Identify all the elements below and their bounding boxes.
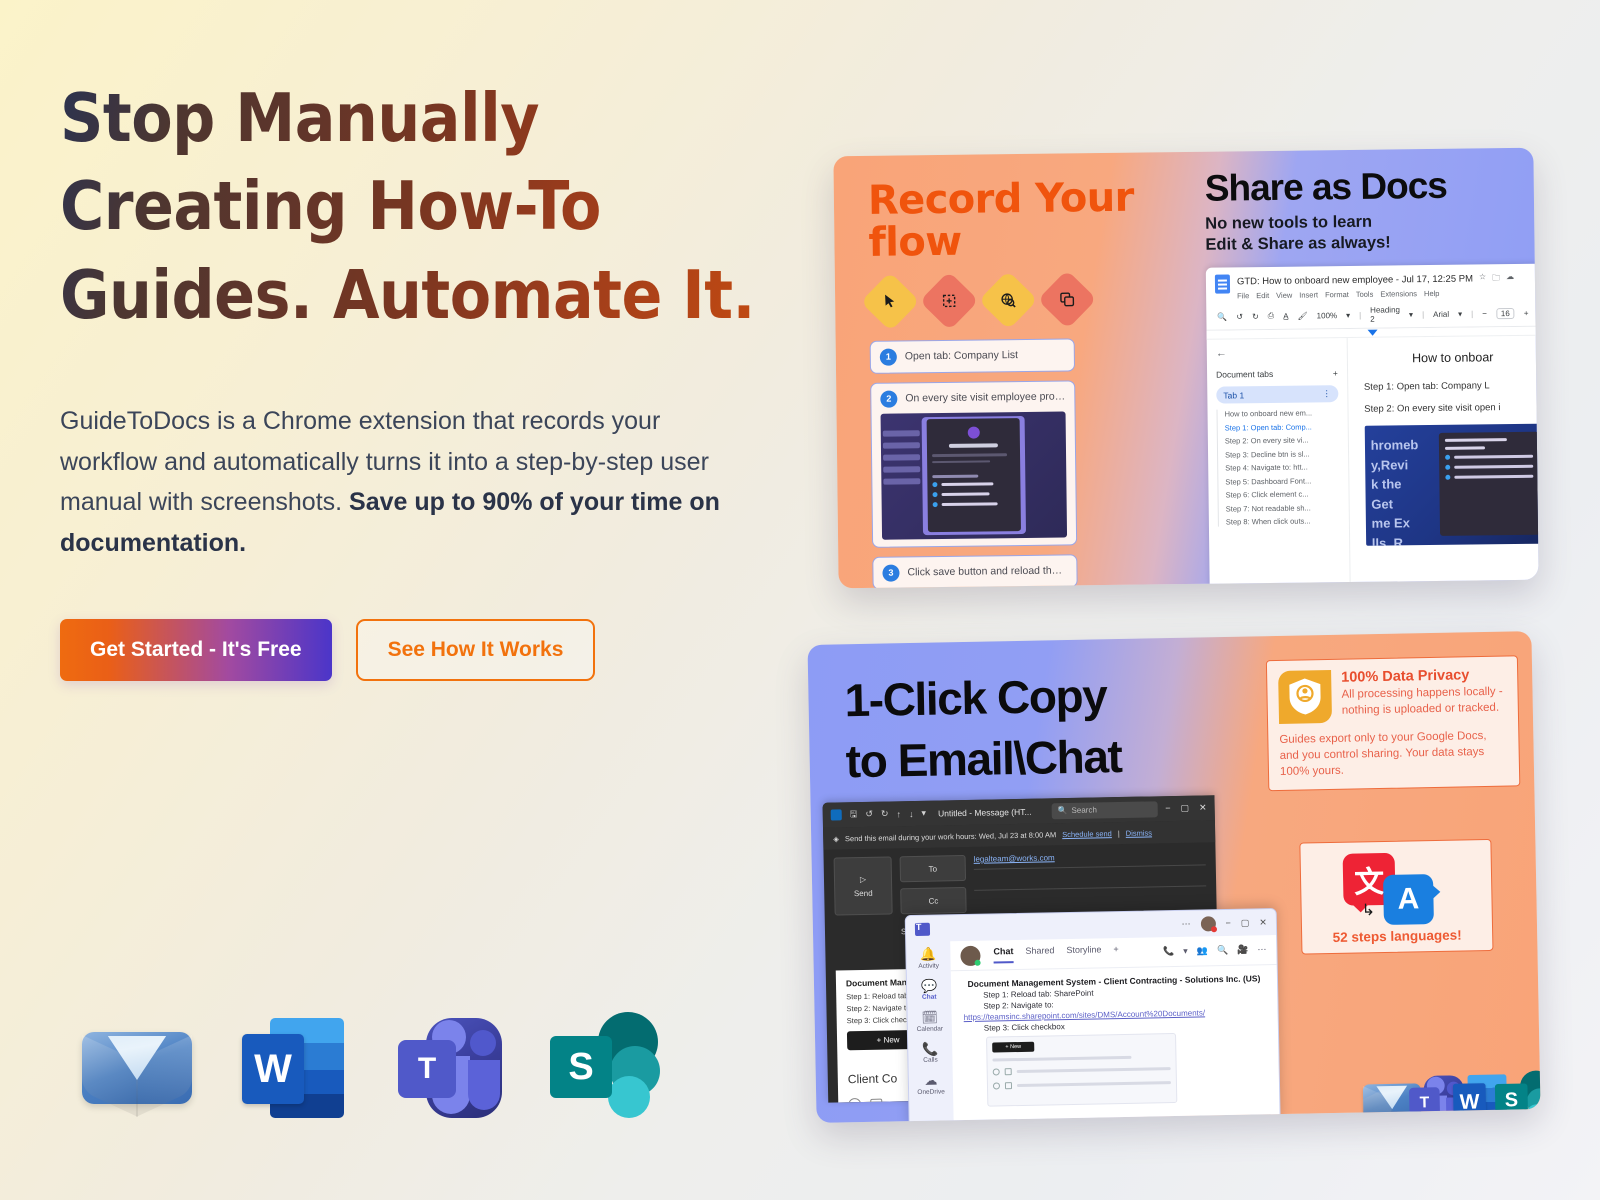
record-flow-panel: Record Your flow 1 Open tab: Company Lis… [833, 152, 1202, 588]
recipient-buttons: To Cc [900, 855, 967, 914]
mail-icon [78, 1008, 196, 1126]
google-docs-window: GTD: How to onboard new employee - Jul 1… [1206, 264, 1539, 589]
word-icon-letter: W [242, 1034, 304, 1104]
document-tab-name: Tab 1 [1223, 390, 1244, 400]
step-header: 2 On every site visit employee profile a… [880, 388, 1065, 407]
schedule-send-link[interactable]: Schedule send [1062, 829, 1112, 839]
docs-embedded-screenshot: hromeby,Revik theGetme Exlls, Rws in [1364, 424, 1538, 546]
word-icon: W [1448, 1070, 1481, 1103]
outline-item[interactable]: How to onboard new em... [1225, 408, 1339, 418]
outline-item[interactable]: Step 3: Decline btn is sl... [1225, 449, 1339, 459]
send-icon: ▷ [860, 874, 866, 883]
search-icon[interactable]: 🔍 [1217, 312, 1227, 321]
share-as-docs-subtitle: No new tools to learn Edit & Share as al… [1205, 210, 1534, 257]
screenshot-line [1445, 446, 1485, 449]
chevron-down-icon[interactable]: ▾ [1458, 309, 1462, 318]
menu-edit[interactable]: Edit [1256, 291, 1269, 300]
docs-page-heading: How to onboar [1364, 350, 1539, 366]
move-up-icon[interactable]: ↑ [896, 809, 901, 819]
send-button[interactable]: ▷ Send [834, 856, 893, 915]
screenshot-modal-content [927, 418, 1021, 533]
outline-item[interactable]: Step 5: Dashboard Font... [1225, 476, 1339, 486]
search-placeholder: Search [1071, 805, 1097, 814]
privacy-text-block: 100% Data Privacy All processing happens… [1341, 667, 1507, 723]
teams-message: Document Management System - Client Cont… [951, 965, 1280, 1115]
font-family-select[interactable]: Arial [1433, 309, 1449, 318]
window-controls: − ▢ ✕ [1165, 802, 1207, 814]
outline-item[interactable]: Step 7: Not readable sh... [1226, 503, 1340, 513]
one-click-copy-title: 1-Click Copy to Email\Chat [844, 665, 1122, 792]
tab-storyline[interactable]: Storyline [1066, 944, 1101, 962]
docs-step-line: Step 2: On every site visit open i [1364, 402, 1538, 415]
screenshot-checkbox-row [933, 481, 1016, 487]
cc-recipient-value[interactable] [974, 865, 1206, 890]
google-docs-icon [1215, 274, 1230, 293]
step-number: 2 [880, 390, 897, 407]
tab-options-icon[interactable]: ⋮ [1322, 388, 1331, 399]
save-icon[interactable]: 🖫 [850, 807, 858, 823]
share-subtitle-line2: Edit & Share as always! [1205, 231, 1534, 256]
outlook-icon [831, 809, 842, 820]
bold-icon[interactable]: B [1537, 308, 1538, 317]
outline-item[interactable]: Step 2: On every site vi... [1225, 435, 1339, 445]
star-icon[interactable]: ☆ [1479, 272, 1486, 286]
outlook-window-title: Untitled - Message (HT... [938, 806, 1032, 818]
screenshot-overlay-text: hromeby,Revik theGetme Exlls, Rws in [1371, 435, 1420, 546]
add-tab-icon[interactable]: + [1333, 368, 1338, 378]
docs-outline-sidebar: ← Document tabs + Tab 1 ⋮ How to onboard… [1207, 338, 1351, 588]
zoom-level[interactable]: 100% [1317, 311, 1338, 320]
hero-description: GuideToDocs is a Chrome extension that r… [60, 401, 740, 563]
outlook-search-input[interactable]: 🔍 Search [1051, 801, 1157, 819]
crop-select-icon[interactable] [919, 271, 978, 330]
record-flow-title: Record Your flow [868, 176, 1181, 265]
paint-format-icon[interactable]: 🖌 [1297, 311, 1307, 320]
cloud-saved-icon[interactable]: ☁ [1506, 272, 1514, 286]
teams-window-controls: ⋯ − ▢ ✕ [1181, 915, 1267, 932]
chevron-down-icon[interactable]: ▾ [1183, 946, 1188, 957]
print-icon[interactable]: ⎙ [1268, 311, 1275, 321]
screenshot-checkbox-row [933, 491, 1016, 497]
cc-button[interactable]: Cc [900, 887, 966, 914]
redo-icon[interactable]: ↻ [881, 808, 889, 819]
screenshot-checkbox-row [1445, 454, 1533, 460]
feature-card-one-click-copy: 1-Click Copy to Email\Chat 🖫 ↺ ↻ ↑ ↓ ▾ U… [807, 631, 1540, 1123]
card2-integration-icons: T W S [1359, 1039, 1526, 1104]
maximize-icon[interactable]: ▢ [1241, 917, 1250, 928]
one-click-copy-title-line1: 1-Click Copy [844, 665, 1121, 731]
thumb-row [993, 1079, 1171, 1089]
docs-step-line: Step 1: Open tab: Company L [1364, 380, 1539, 393]
to-button[interactable]: To [900, 855, 966, 882]
step-header: 1 Open tab: Company List [880, 346, 1065, 365]
more-options-icon[interactable]: ⋯ [1257, 944, 1266, 955]
teams-icon-head-small [470, 1030, 496, 1056]
document-tabs-label: Document tabs [1216, 369, 1273, 380]
sidebar-item-calendar[interactable]: 🗓Calendar [908, 1009, 952, 1032]
screenshot-sidebar [883, 431, 921, 491]
privacy-header: 100% Data Privacy All processing happens… [1278, 667, 1507, 724]
close-icon[interactable]: ✕ [1259, 917, 1267, 928]
teams-body: 🔔Activity 💬Chat 🗓Calendar 📞Calls ☁OneDri… [906, 935, 1279, 1123]
screenshot-modal-avatar [967, 427, 979, 439]
move-folder-icon[interactable]: 🗀 [1492, 272, 1500, 286]
search-icon: 🔍 [1057, 806, 1067, 815]
docs-toolbar: 🔍 ↺ ↻ ⎙ A̲ 🖌 100% ▾ | Heading 2 ▾ | Aria… [1206, 300, 1538, 331]
sharepoint-icon-circle-bottom [1526, 1104, 1541, 1123]
outline-item[interactable]: Step 4: Navigate to: htt... [1225, 462, 1339, 472]
step-header: 3 Click save button and reload the page [882, 562, 1067, 581]
chat-icon: 💬 [907, 978, 951, 994]
step-card[interactable]: 3 Click save button and reload the page [872, 554, 1077, 588]
menu-format[interactable]: Format [1325, 290, 1349, 299]
page-title: Stop Manually Creating How-To Guides. Au… [60, 74, 760, 339]
docs-body: ← Document tabs + Tab 1 ⋮ How to onboard… [1207, 336, 1539, 589]
screenshot-line [932, 453, 1006, 456]
tab-shared[interactable]: Shared [1025, 945, 1054, 963]
shield-person-icon [1278, 670, 1332, 724]
teams-icon-body-small [468, 1060, 500, 1110]
radio-icon[interactable] [848, 1098, 861, 1102]
teams-icon: T [1404, 1070, 1437, 1103]
teams-chat-window: ⋯ − ▢ ✕ 🔔Activity 💬Chat 🗓Calendar 📞Calls… [905, 908, 1281, 1123]
docs-menubar[interactable]: File Edit View Insert Format Tools Exten… [1237, 288, 1514, 300]
sidebar-item-calls[interactable]: 📞Calls [908, 1041, 952, 1064]
privacy-footer: Guides export only to your Google Docs, … [1279, 728, 1508, 781]
languages-panel: 文 A ↳ 52 steps languages! [1299, 839, 1493, 955]
sharepoint-icon-group: S [1494, 1070, 1541, 1123]
docs-document-title: GTD: How to onboard new employee - Jul 1… [1237, 273, 1473, 287]
spellcheck-icon[interactable]: A̲ [1283, 311, 1288, 320]
decrease-font-icon[interactable]: − [1482, 309, 1487, 318]
one-click-copy-title-line2: to Email\Chat [845, 726, 1122, 792]
step-card[interactable]: 1 Open tab: Company List [870, 338, 1075, 374]
capture-tool-icons [869, 277, 1181, 323]
screenshot-modal-title [949, 443, 999, 448]
outline-item[interactable]: Step 6: Click element c... [1225, 489, 1339, 499]
move-down-icon[interactable]: ↓ [909, 808, 914, 818]
translate-icon: 文 A ↳ [1341, 852, 1452, 924]
menu-help[interactable]: Help [1424, 289, 1440, 298]
schedule-banner-text: Send this email during your work hours: … [845, 830, 1056, 843]
teams-icon: T [390, 1008, 508, 1126]
word-icon-letter: W [1453, 1083, 1486, 1120]
sidebar-item-onedrive[interactable]: ☁OneDrive [909, 1073, 953, 1096]
share-as-docs-title: Share as Docs [1205, 166, 1534, 207]
step-screenshot [881, 411, 1068, 539]
languages-caption: 52 steps languages! [1312, 927, 1482, 945]
hero-section: Stop Manually Creating How-To Guides. Au… [60, 74, 780, 681]
back-arrow-icon[interactable]: ← [1216, 346, 1338, 359]
document-tabs-header: Document tabs + [1216, 368, 1338, 379]
screenshot-line [932, 460, 990, 463]
sharepoint-icon: S [546, 1008, 664, 1126]
sharepoint-icon-letter: S [550, 1036, 612, 1098]
screenshot-checkbox-row [1445, 474, 1533, 480]
phone-icon: 📞 [908, 1041, 952, 1057]
minimize-icon[interactable]: − [1225, 918, 1230, 928]
screenshot-modal-overlay [1439, 432, 1539, 536]
translate-arrow-icon: ↳ [1361, 900, 1375, 920]
dismiss-link[interactable]: Dismiss [1126, 828, 1152, 838]
thumb-new-button: + New [992, 1042, 1034, 1053]
undo-icon[interactable]: ↺ [865, 809, 873, 820]
teams-nav-rail: 🔔Activity 💬Chat 🗓Calendar 📞Calls ☁OneDri… [906, 941, 954, 1123]
step-number: 1 [880, 348, 897, 365]
thumb-row [993, 1065, 1171, 1075]
menu-extensions[interactable]: Extensions [1380, 289, 1417, 298]
screenshot-line [1445, 438, 1507, 442]
close-icon[interactable]: ✕ [1199, 802, 1207, 813]
sharepoint-icon-letter: S [1495, 1083, 1528, 1116]
teams-header-actions: 📞 ▾ 👥 🔍 🎥 ⋯ [1163, 944, 1267, 957]
docs-title-block: GTD: How to onboard new employee - Jul 1… [1237, 271, 1515, 300]
step-text: Open tab: Company List [905, 349, 1018, 362]
tab-chat[interactable]: Chat [993, 946, 1013, 963]
feature-card-record-share: Record Your flow 1 Open tab: Company Lis… [833, 148, 1538, 589]
docs-title-icons[interactable]: ☆ 🗀 ☁ [1479, 272, 1514, 286]
screenshot-checkbox-row [1445, 464, 1533, 470]
cta-button-row: Get Started - It's Free See How It Works [60, 619, 780, 681]
undo-icon[interactable]: ↺ [1236, 312, 1243, 321]
step-text: On every site visit employee profile a..… [905, 391, 1065, 405]
meet-now-icon[interactable]: 🎥 [1237, 945, 1248, 956]
checkbox-icon[interactable] [870, 1098, 882, 1102]
outline-item[interactable]: Step 1: Open tab: Comp... [1225, 422, 1339, 432]
share-as-docs-panel: Share as Docs No new tools to learn Edit… [1190, 148, 1538, 584]
font-size-input[interactable]: 16 [1496, 307, 1515, 318]
add-people-icon[interactable]: 👥 [1197, 945, 1208, 956]
screenshot-checkbox-row [933, 501, 1016, 507]
copy-icon[interactable] [1037, 270, 1096, 329]
step-card[interactable]: 2 On every site visit employee profile a… [870, 380, 1077, 547]
translate-icon-target: A [1383, 874, 1434, 925]
menu-tools[interactable]: Tools [1356, 290, 1374, 299]
search-icon[interactable]: 🔍 [1217, 945, 1228, 956]
docs-titlebar: GTD: How to onboard new employee - Jul 1… [1206, 264, 1539, 304]
sidebar-item-activity[interactable]: 🔔Activity [906, 946, 950, 969]
step-text: Click save button and reload the page [907, 565, 1067, 579]
see-how-it-works-button[interactable]: See How It Works [356, 619, 596, 681]
more-options-icon[interactable]: ⋯ [1181, 918, 1190, 929]
teams-main-panel: Chat Shared Storyline + 📞 ▾ 👥 🔍 🎥 ⋯ [950, 935, 1279, 1123]
get-started-button[interactable]: Get Started - It's Free [60, 619, 332, 681]
menu-insert[interactable]: Insert [1299, 290, 1318, 299]
privacy-body: All processing happens locally - nothing… [1341, 685, 1507, 719]
data-privacy-panel: 100% Data Privacy All processing happens… [1266, 655, 1520, 791]
sharepoint-icon-group: S [548, 1012, 662, 1124]
thumb-line [992, 1056, 1131, 1062]
paragraph-style-select[interactable]: Heading 2 [1370, 305, 1400, 323]
mail-icon-flap [88, 1036, 186, 1092]
teams-icon-letter: T [1409, 1087, 1440, 1118]
info-icon: ◈ [833, 834, 839, 843]
minimize-icon[interactable]: − [1165, 803, 1170, 814]
mail-icon [1361, 1071, 1394, 1104]
chevron-down-icon[interactable]: ▾ [921, 808, 926, 819]
outline-item[interactable]: Step 8: When click outs... [1226, 516, 1340, 526]
message-screenshot[interactable]: + New [986, 1033, 1177, 1107]
word-icon: W [234, 1008, 352, 1126]
docs-page-content[interactable]: How to onboar Step 1: Open tab: Company … [1347, 336, 1538, 589]
screenshot-line [933, 475, 978, 478]
teams-icon-letter: T [398, 1040, 456, 1098]
avatar[interactable] [1200, 916, 1215, 931]
menu-view[interactable]: View [1276, 291, 1292, 300]
sharepoint-icon: S [1492, 1069, 1525, 1102]
integration-app-icons: W T S [78, 1008, 664, 1126]
menu-file[interactable]: File [1237, 291, 1249, 300]
redo-icon[interactable]: ↻ [1252, 312, 1259, 321]
teams-icon [915, 922, 930, 935]
document-tab-item[interactable]: Tab 1 ⋮ [1216, 385, 1338, 403]
teams-icon-group: T [398, 1018, 502, 1118]
call-icon[interactable]: 📞 [1163, 946, 1174, 957]
send-label: Send [854, 888, 873, 897]
chevron-down-icon[interactable]: ▾ [1409, 310, 1413, 319]
maximize-icon[interactable]: ▢ [1181, 803, 1190, 814]
step-number: 3 [882, 564, 899, 581]
avatar [960, 945, 980, 965]
sidebar-item-chat[interactable]: 💬Chat [907, 978, 951, 1001]
cursor-click-icon[interactable] [860, 272, 919, 331]
cloud-icon: ☁ [909, 1073, 953, 1089]
add-tab-icon[interactable]: + [1113, 944, 1119, 961]
recorded-step-list: 1 Open tab: Company List 2 On every site… [870, 338, 1078, 588]
calendar-icon: 🗓 [908, 1009, 952, 1025]
docs-outline-list: How to onboard new em... Step 1: Open ta… [1217, 408, 1340, 526]
recipient-fields: legalteam@works.com [974, 850, 1207, 912]
increase-font-icon[interactable]: + [1524, 308, 1529, 317]
bell-icon: 🔔 [906, 946, 950, 962]
privacy-heading: 100% Data Privacy [1341, 667, 1506, 686]
chevron-down-icon[interactable]: ▾ [1346, 310, 1350, 319]
teams-tabs: Chat Shared Storyline + [993, 944, 1119, 963]
sharepoint-icon-circle-bottom [608, 1076, 650, 1118]
globe-search-icon[interactable] [978, 270, 1037, 329]
